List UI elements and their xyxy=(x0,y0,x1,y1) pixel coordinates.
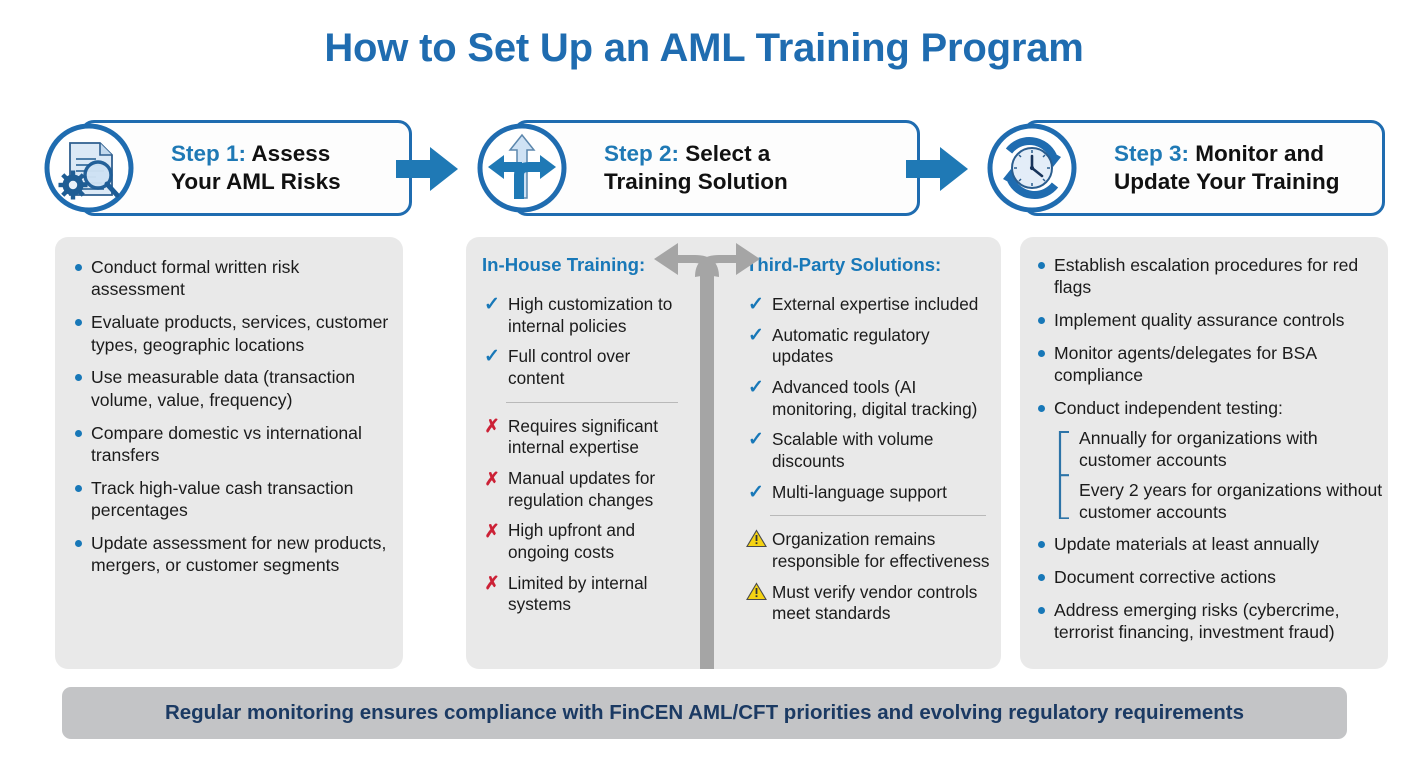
list-item-label: Limited by internal systems xyxy=(508,573,647,615)
footer-text: Regular monitoring ensures compliance wi… xyxy=(165,701,1244,725)
list-item: ✓ Multi-language support xyxy=(746,482,990,504)
step-3-bullet-list: Establish escalation procedures for red … xyxy=(1035,254,1387,654)
list-item: ✓ Automatic regulatory updates xyxy=(746,325,990,368)
list-item: Monitor agents/delegates for BSA complia… xyxy=(1035,342,1387,387)
list-item-label: Advanced tools (AI monitoring, digital t… xyxy=(772,377,977,419)
list-item-label: Multi-language support xyxy=(772,482,947,502)
list-item: Track high-value cash transaction percen… xyxy=(72,477,394,522)
list-item: ✓ Scalable with volume discounts xyxy=(746,429,990,472)
list-item: Evaluate products, services, customer ty… xyxy=(72,311,394,356)
list-item: Compare domestic vs international transf… xyxy=(72,422,394,467)
check-icon: ✓ xyxy=(482,346,502,367)
list-item: ✓ External expertise included xyxy=(746,294,990,316)
step-1-title-line1: Assess xyxy=(246,141,330,166)
step-1-number: Step 1: xyxy=(171,141,246,166)
third-party-heading: Third-Party Solutions: xyxy=(746,254,990,276)
list-item: Document corrective actions xyxy=(1035,566,1387,588)
fork-split-arrow-icon xyxy=(648,237,766,669)
step-1-bullet-list: Conduct formal written risk assessment E… xyxy=(72,256,394,587)
list-item: Annually for organizations with customer… xyxy=(1079,427,1387,472)
connector-arrow-1 xyxy=(396,147,458,191)
independent-testing-sublist: Annually for organizations with customer… xyxy=(1057,427,1387,523)
list-item-label: External expertise included xyxy=(772,294,978,314)
step-header-2: Step 2: Select a Training Solution xyxy=(455,120,920,216)
step-2-number: Step 2: xyxy=(604,141,679,166)
list-item-label: Full control over content xyxy=(508,346,630,388)
list-item: Every 2 years for organizations without … xyxy=(1079,479,1387,524)
step-header-1: Step 1: Assess Your AML Risks xyxy=(22,120,412,216)
list-item-label: Automatic regulatory updates xyxy=(772,325,930,367)
list-item-label: High upfront and ongoing costs xyxy=(508,520,635,562)
list-item-label: Manual updates for regulation changes xyxy=(508,468,655,510)
list-item-label: Organization remains responsible for eff… xyxy=(772,529,990,571)
list-item: ✓ Advanced tools (AI monitoring, digital… xyxy=(746,377,990,420)
connector-arrow-2 xyxy=(906,147,968,191)
list-item-label: Requires significant internal expertise xyxy=(508,416,658,458)
step-1-title-line2: Your AML Risks xyxy=(171,169,341,194)
document-magnifier-gear-icon xyxy=(22,123,152,213)
cross-icon: ✗ xyxy=(482,520,502,541)
three-way-arrow-icon xyxy=(455,123,585,213)
list-item-label: Scalable with volume discounts xyxy=(772,429,933,471)
step-1-heading: Step 1: Assess Your AML Risks xyxy=(171,140,341,197)
list-item: Use measurable data (transaction volume,… xyxy=(72,366,394,411)
step-2-heading: Step 2: Select a Training Solution xyxy=(604,140,788,197)
cross-icon: ✗ xyxy=(482,416,502,437)
list-item: Establish escalation procedures for red … xyxy=(1035,254,1387,299)
page-title: How to Set Up an AML Training Program xyxy=(0,26,1408,71)
step-3-title-line1: Monitor and xyxy=(1189,141,1324,166)
clock-refresh-icon xyxy=(965,123,1095,213)
list-item-label: Must verify vendor controls meet standar… xyxy=(772,582,977,624)
step-3-number: Step 3: xyxy=(1114,141,1189,166)
list-item: Conduct formal written risk assessment xyxy=(72,256,394,301)
list-item: Must verify vendor controls meet standar… xyxy=(746,582,990,625)
list-item: Organization remains responsible for eff… xyxy=(746,529,990,572)
list-item: Update assessment for new products, merg… xyxy=(72,532,394,577)
divider xyxy=(770,515,986,516)
list-item: Update materials at least annually xyxy=(1035,533,1387,555)
step-2-title-line1: Select a xyxy=(679,141,770,166)
step-header-3: Step 3: Monitor and Update Your Training xyxy=(965,120,1385,216)
cross-icon: ✗ xyxy=(482,573,502,594)
cross-icon: ✗ xyxy=(482,468,502,489)
step-3-heading: Step 3: Monitor and Update Your Training xyxy=(1114,140,1339,197)
bracket-icon xyxy=(1057,431,1070,519)
step-2-title-line2: Training Solution xyxy=(604,169,788,194)
third-party-solutions-column: Third-Party Solutions: ✓ External expert… xyxy=(746,254,990,634)
infographic-canvas: How to Set Up an AML Training Program St… xyxy=(0,0,1408,768)
footer-banner: Regular monitoring ensures compliance wi… xyxy=(62,687,1347,739)
list-item: Conduct independent testing: xyxy=(1035,397,1387,419)
check-icon: ✓ xyxy=(482,294,502,315)
list-item: Implement quality assurance controls xyxy=(1035,309,1387,331)
step-3-title-line2: Update Your Training xyxy=(1114,169,1339,194)
list-item: Address emerging risks (cybercrime, terr… xyxy=(1035,599,1387,644)
